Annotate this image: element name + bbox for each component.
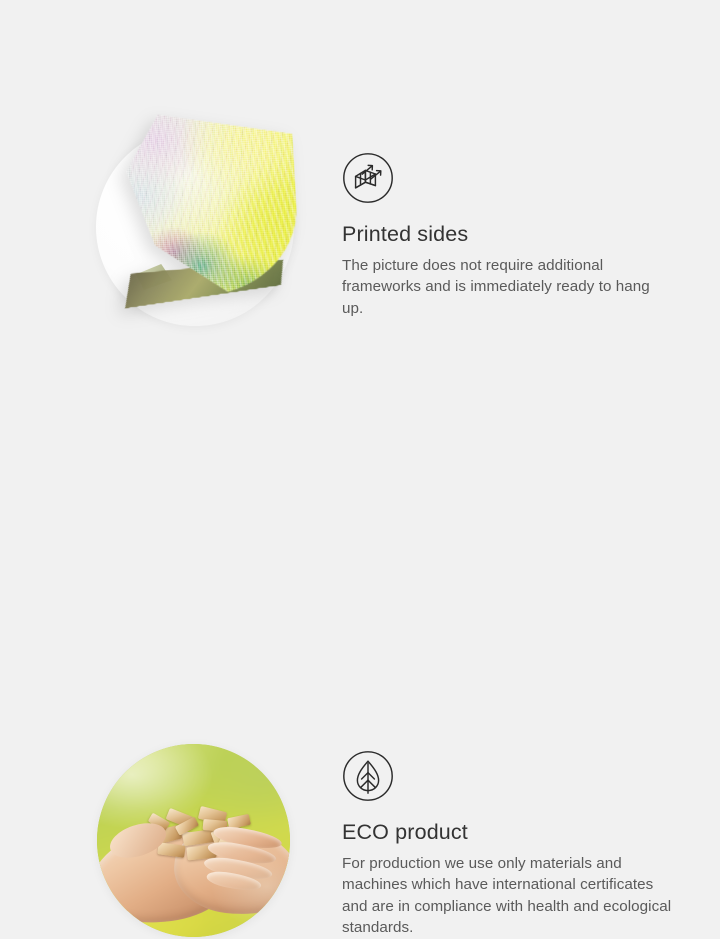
canvas-weave-texture xyxy=(124,101,302,296)
canvas-artwork xyxy=(128,118,288,318)
feature-title: Printed sides xyxy=(342,222,672,248)
leaf-icon xyxy=(342,750,394,802)
feature-block-printed-sides: Printed sides The picture does not requi… xyxy=(0,0,720,360)
eco-product-text-column: ECO product For production we use only m… xyxy=(342,750,672,939)
eco-photo-disc xyxy=(97,744,290,937)
feature-description: The picture does not require additional … xyxy=(342,255,672,320)
printed-sides-text-column: Printed sides The picture does not requi… xyxy=(342,152,672,319)
product-feature-panel: Printed sides The picture does not requi… xyxy=(0,0,720,720)
feature-title: ECO product xyxy=(342,820,672,846)
canvas-printed-face xyxy=(124,101,302,296)
feature-block-eco-product: ECO product For production we use only m… xyxy=(0,360,720,720)
feature-description: For production we use only materials and… xyxy=(342,853,672,939)
printed-canvas-3d-icon xyxy=(342,152,394,204)
